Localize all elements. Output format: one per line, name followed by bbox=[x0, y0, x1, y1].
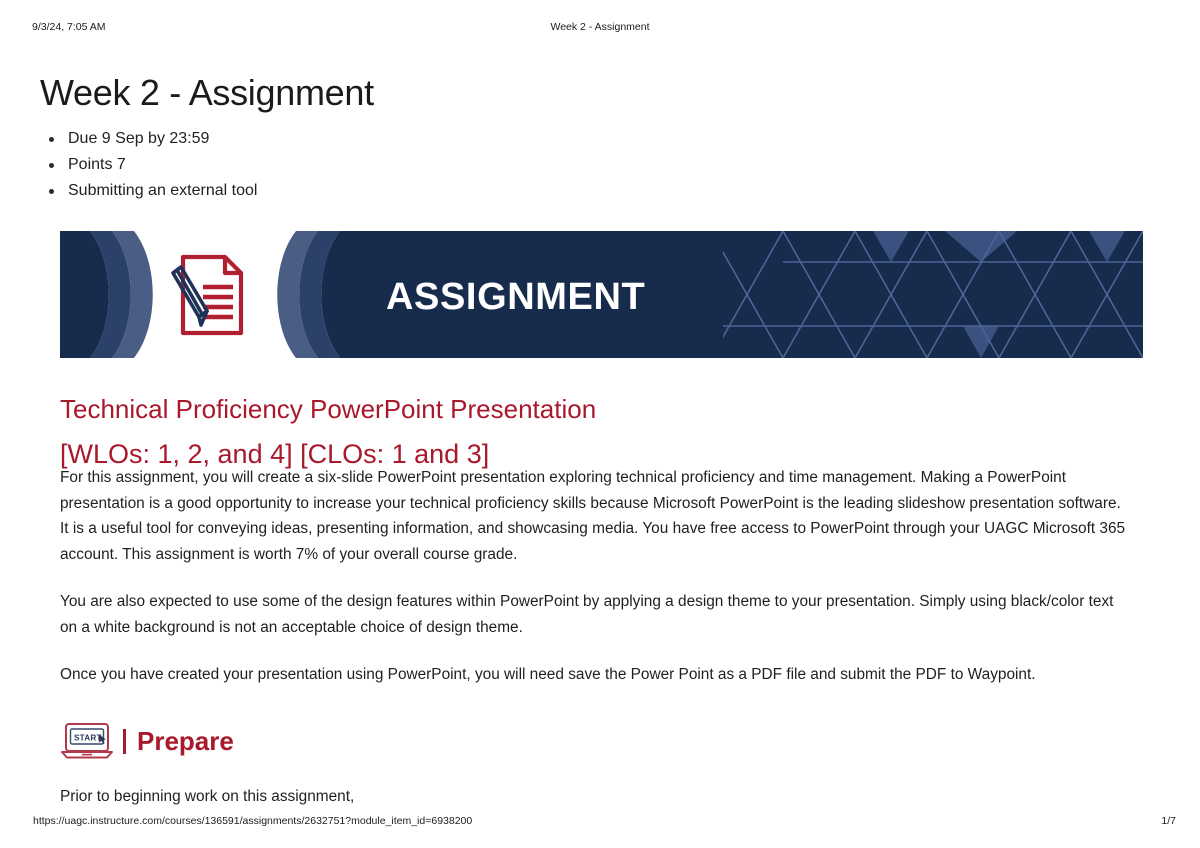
svg-text:START: START bbox=[74, 733, 102, 742]
assignment-meta-list: Due 9 Sep by 23:59 Points 7 Submitting a… bbox=[40, 126, 257, 204]
prepare-intro-text: Prior to beginning work on this assignme… bbox=[60, 784, 354, 809]
print-footer: https://uagc.instructure.com/courses/136… bbox=[0, 815, 1200, 829]
banner-title: ASSIGNMENT bbox=[386, 276, 645, 319]
list-item-submission-type: Submitting an external tool bbox=[40, 178, 257, 204]
start-laptop-icon: START bbox=[60, 721, 114, 761]
prepare-section-heading: START Prepare bbox=[60, 720, 234, 762]
assignment-body: For this assignment, you will create a s… bbox=[60, 465, 1129, 710]
triangle-pattern-decoration bbox=[723, 231, 1143, 358]
paragraph-submission: Once you have created your presentation … bbox=[60, 662, 1129, 688]
paragraph-overview: For this assignment, you will create a s… bbox=[60, 465, 1129, 567]
assignment-banner: ASSIGNMENT bbox=[60, 231, 1143, 358]
page-number: 1/7 bbox=[1161, 815, 1176, 827]
prepare-label: Prepare bbox=[137, 726, 234, 757]
meta-label: Submitting an external tool bbox=[68, 182, 257, 199]
page-title: Week 2 - Assignment bbox=[40, 72, 374, 114]
source-url: https://uagc.instructure.com/courses/136… bbox=[33, 815, 472, 827]
meta-label: Due 9 Sep by 23:59 bbox=[68, 130, 209, 147]
document-with-pen-icon bbox=[161, 251, 249, 339]
print-header: 9/3/24, 7:05 AM Week 2 - Assignment bbox=[0, 21, 1200, 37]
meta-label: Points 7 bbox=[68, 156, 126, 173]
list-item-points: Points 7 bbox=[40, 152, 257, 178]
print-document-title: Week 2 - Assignment bbox=[0, 21, 1200, 33]
list-item-due-date: Due 9 Sep by 23:59 bbox=[40, 126, 257, 152]
paragraph-design-theme: You are also expected to use some of the… bbox=[60, 589, 1129, 640]
prepare-divider bbox=[123, 729, 126, 754]
assignment-heading: Technical Proficiency PowerPoint Present… bbox=[60, 394, 596, 425]
